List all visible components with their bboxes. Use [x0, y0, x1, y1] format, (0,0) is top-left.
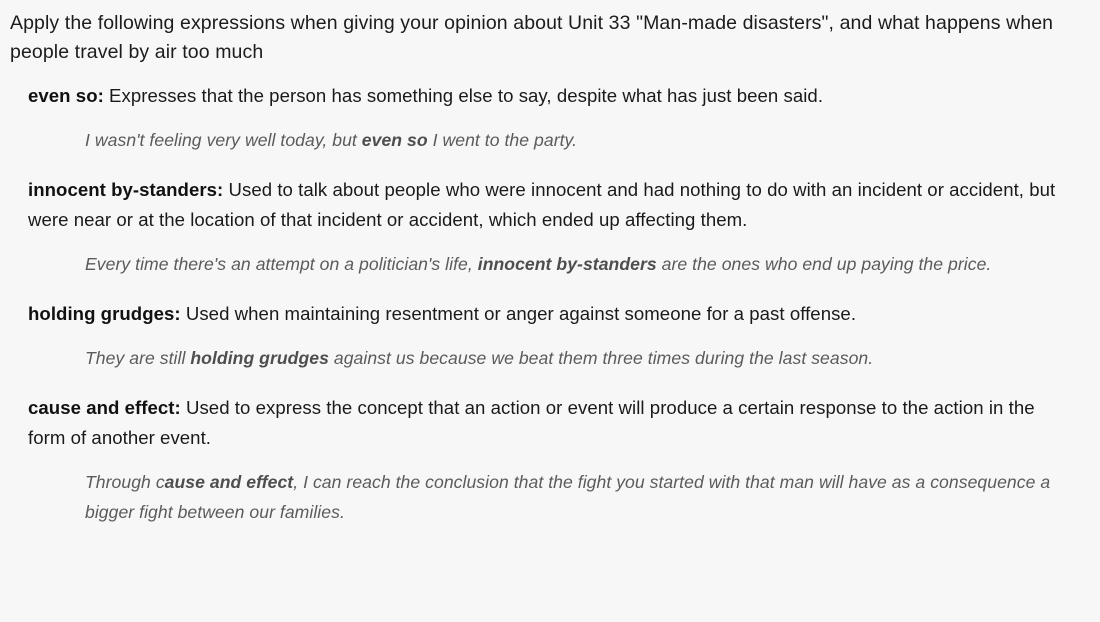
expression-example: Every time there's an attempt on a polit…: [28, 249, 1088, 279]
expression-example: They are still holding grudges against u…: [28, 343, 1088, 373]
expression-definition: cause and effect: Used to express the co…: [28, 393, 1076, 453]
expression-definition-text: Expresses that the person has something …: [104, 85, 823, 106]
example-highlight-phrase: ause and effect: [165, 472, 294, 492]
example-text-after: against us because we beat them three ti…: [329, 348, 873, 368]
example-highlight-phrase: even so: [362, 130, 428, 150]
expression-definition: holding grudges: Used when maintaining r…: [28, 299, 1076, 329]
expression-definition-text: Used when maintaining resentment or ange…: [181, 303, 856, 324]
example-highlight-phrase: holding grudges: [190, 348, 329, 368]
expression-entry: cause and effect: Used to express the co…: [28, 393, 1088, 527]
expression-example: Through cause and effect, I can reach th…: [28, 467, 1088, 527]
page-intro-instruction: Apply the following expressions when giv…: [10, 9, 1088, 67]
lesson-expressions-page: Apply the following expressions when giv…: [0, 0, 1100, 622]
expression-term: innocent by-standers:: [28, 179, 223, 200]
example-highlight-phrase: innocent by-standers: [478, 254, 657, 274]
example-text-before: They are still: [85, 348, 190, 368]
expression-entry-list: even so: Expresses that the person has s…: [10, 81, 1088, 527]
expression-example: I wasn't feeling very well today, but ev…: [28, 125, 1088, 155]
expression-entry: holding grudges: Used when maintaining r…: [28, 299, 1088, 373]
expression-definition: even so: Expresses that the person has s…: [28, 81, 1076, 111]
expression-entry: even so: Expresses that the person has s…: [28, 81, 1088, 155]
example-text-after: I went to the party.: [428, 130, 577, 150]
example-text-after: are the ones who end up paying the price…: [657, 254, 992, 274]
example-text-before: Every time there's an attempt on a polit…: [85, 254, 478, 274]
example-text-before: Through c: [85, 472, 165, 492]
expression-entry: innocent by-standers: Used to talk about…: [28, 175, 1088, 279]
expression-term: even so:: [28, 85, 104, 106]
expression-term: cause and effect:: [28, 397, 181, 418]
example-text-before: I wasn't feeling very well today, but: [85, 130, 362, 150]
expression-term: holding grudges:: [28, 303, 181, 324]
expression-definition: innocent by-standers: Used to talk about…: [28, 175, 1076, 235]
